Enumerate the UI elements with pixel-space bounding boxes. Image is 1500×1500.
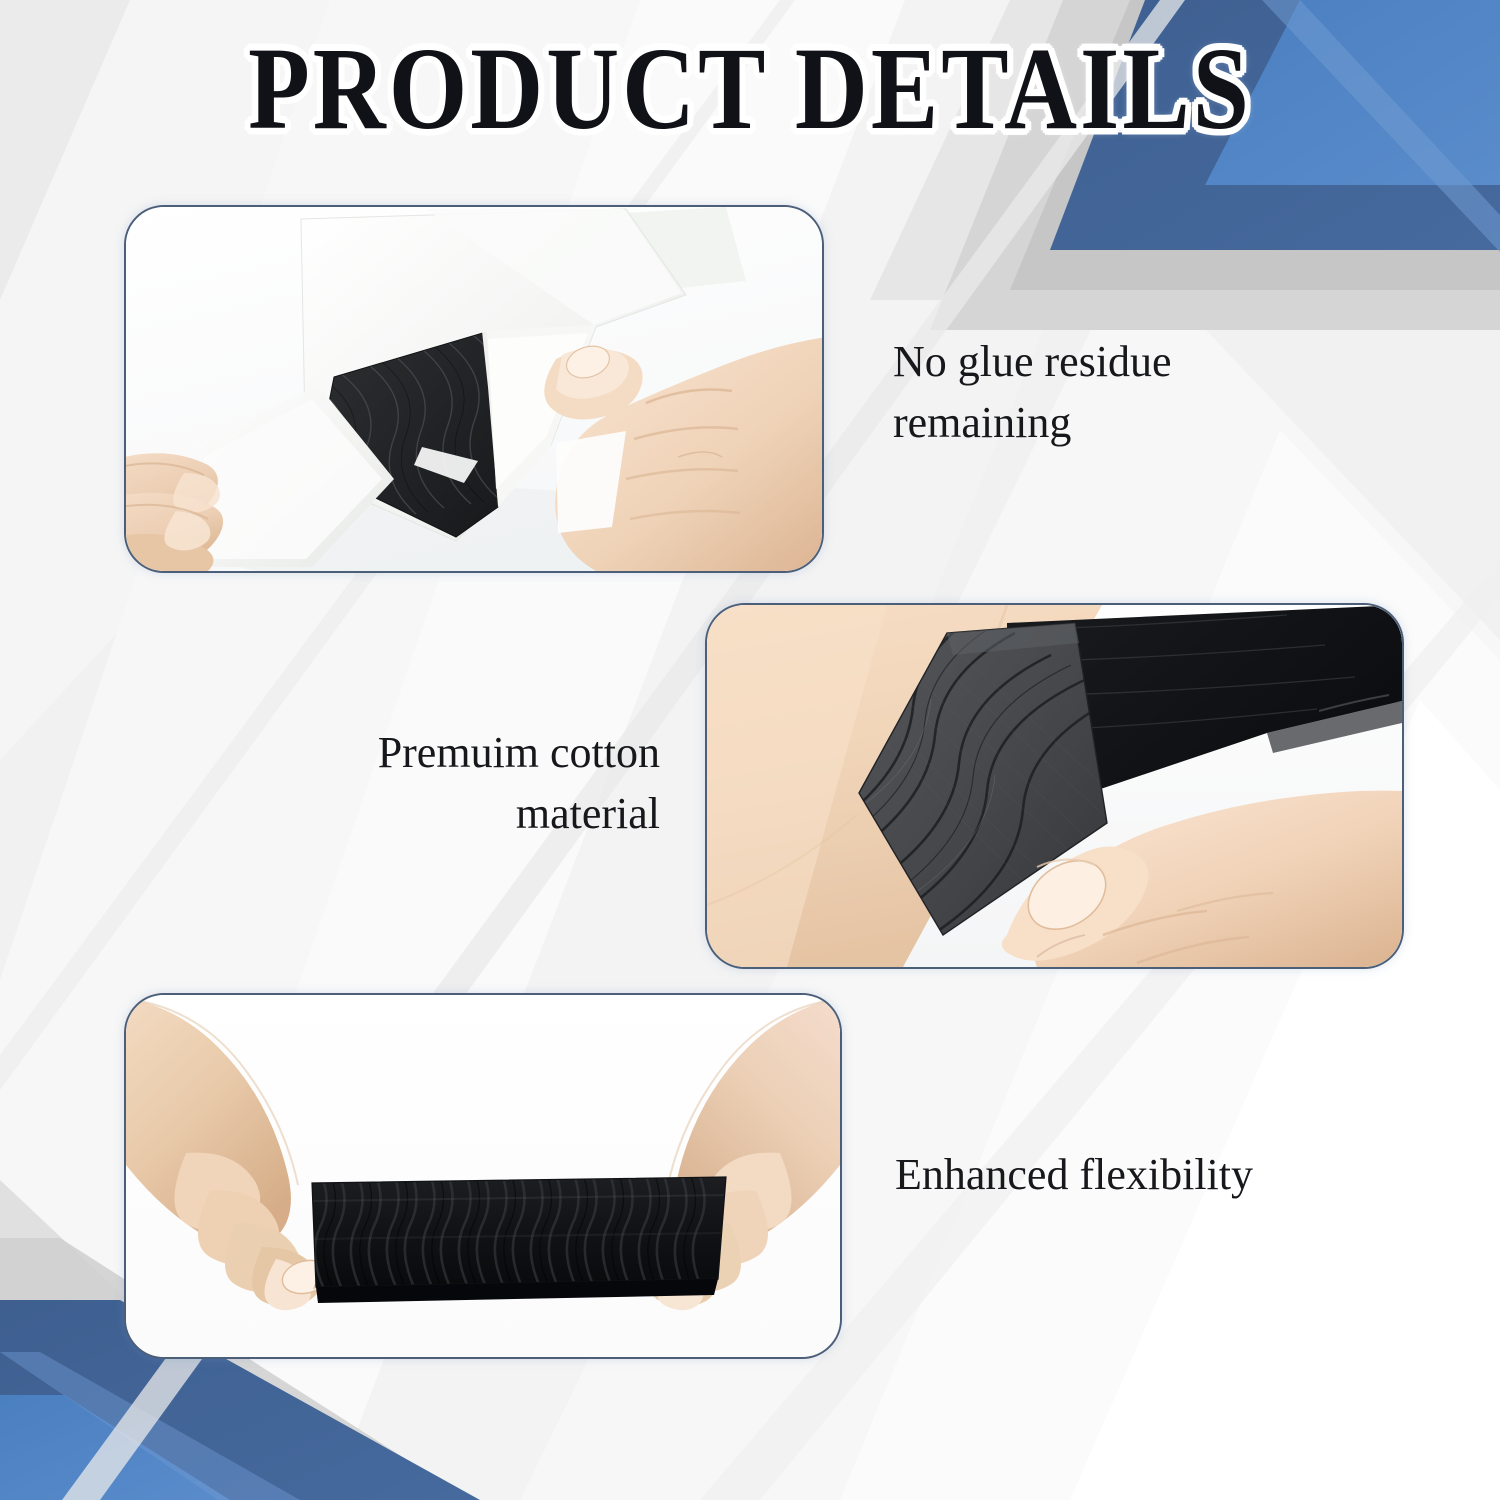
caption-premium-cotton: Premuim cotton material [240,723,660,844]
caption-no-glue-residue: No glue residue remaining [893,332,1323,453]
photo-card-no-glue-residue [124,205,824,573]
caption-enhanced-flexibility: Enhanced flexibility [895,1145,1415,1206]
page-title-wrapper: PRODUCT DETAILS [0,28,1500,133]
photo-card-premium-cotton [705,603,1404,969]
photo-illustration-peeling-backing [126,207,822,571]
photo-no-glue-residue [126,207,822,571]
photo-illustration-stretching-tape [126,995,840,1357]
product-details-infographic: PRODUCT DETAILS [0,0,1500,1500]
left-hand [126,453,223,571]
photo-enhanced-flexibility [126,995,840,1357]
photo-premium-cotton [707,605,1402,967]
page-title: PRODUCT DETAILS [248,28,1252,150]
photo-illustration-tape-on-arm [707,605,1402,967]
photo-card-enhanced-flexibility [124,993,842,1359]
